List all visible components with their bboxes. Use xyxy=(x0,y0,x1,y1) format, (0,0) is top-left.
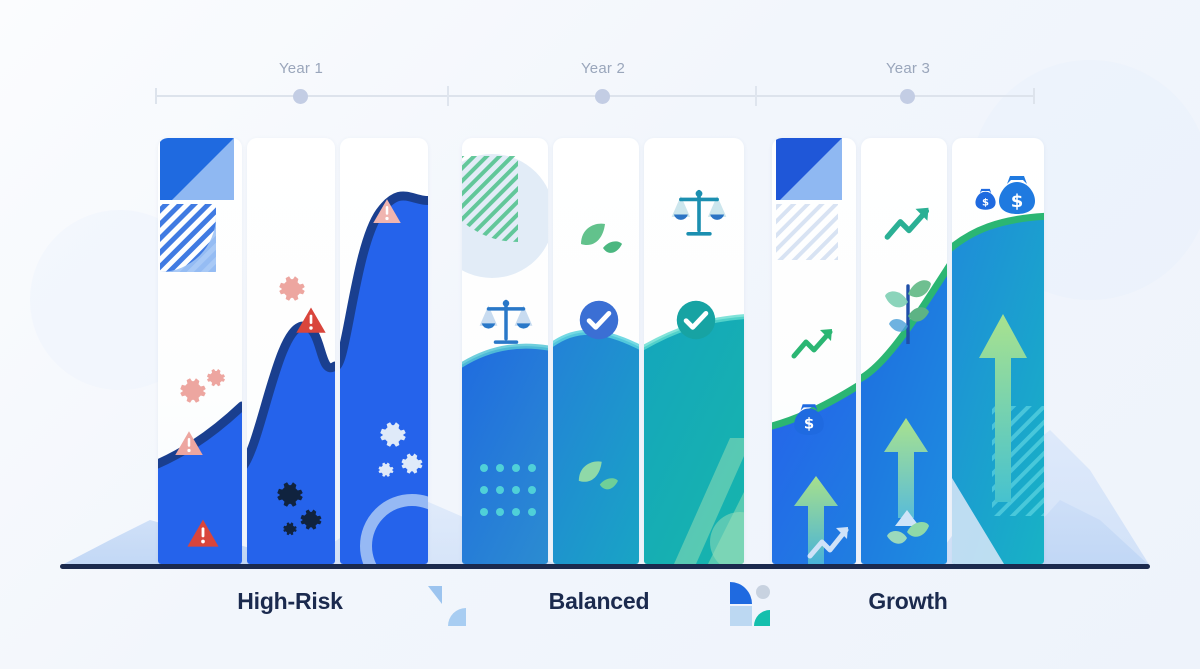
check-circle-icon xyxy=(674,298,718,342)
shape-cluster-quarters-icon xyxy=(722,578,782,630)
money-bag-icon: $ $ xyxy=(974,172,1040,228)
warning-triangle-icon xyxy=(372,196,402,226)
gear-icon xyxy=(376,460,396,480)
leaf-icon xyxy=(573,456,619,498)
panel-balanced-2[interactable] xyxy=(553,138,639,564)
timeline-tick-1 xyxy=(447,86,449,106)
ground-baseline xyxy=(60,564,1150,569)
gear-icon xyxy=(281,520,299,538)
panel-balanced-1[interactable] xyxy=(462,138,548,564)
money-bag-icon: $ xyxy=(792,400,826,436)
panel-growth-3[interactable]: $ $ xyxy=(952,138,1044,564)
panel-balanced-1-art xyxy=(462,138,548,564)
check-circle-icon xyxy=(577,298,621,342)
trend-arrow-icon xyxy=(790,324,838,364)
panel-group-growth[interactable]: $ xyxy=(772,138,1044,564)
timeline-label-year-3: Year 3 xyxy=(886,60,930,77)
panel-group-balanced[interactable] xyxy=(462,138,744,564)
timeline-start-cap xyxy=(155,88,157,104)
timeline-dot-year-2[interactable] xyxy=(595,89,610,104)
panel-growth-2[interactable] xyxy=(861,138,947,564)
svg-text:$: $ xyxy=(982,197,989,208)
category-label-high-risk: High-Risk xyxy=(237,588,343,615)
plant-sprout-icon xyxy=(881,268,935,344)
balance-scales-icon xyxy=(478,294,534,350)
timeline: Year 1 Year 2 Year 3 xyxy=(155,52,1035,112)
trend-arrow-icon xyxy=(806,520,854,564)
panel-balanced-2-art xyxy=(553,138,639,564)
category-label-growth: Growth xyxy=(868,588,947,615)
trend-arrow-icon xyxy=(883,202,935,246)
plant-sprout-icon xyxy=(881,498,933,564)
leaf-icon xyxy=(575,218,623,262)
warning-triangle-icon xyxy=(295,304,327,336)
panel-group-high-risk[interactable] xyxy=(158,138,428,564)
gear-icon xyxy=(376,418,410,452)
timeline-tick-2 xyxy=(755,86,757,106)
panel-high-risk-2[interactable] xyxy=(247,138,335,564)
gear-icon xyxy=(398,450,426,478)
timeline-dot-year-1[interactable] xyxy=(293,89,308,104)
panel-high-risk-3[interactable] xyxy=(340,138,428,564)
warning-triangle-icon xyxy=(186,516,220,550)
timeline-dot-year-3[interactable] xyxy=(900,89,915,104)
gear-icon xyxy=(297,506,325,534)
svg-text:$: $ xyxy=(804,416,814,433)
category-label-balanced: Balanced xyxy=(549,588,650,615)
gear-icon xyxy=(204,366,228,390)
timeline-end-cap xyxy=(1033,88,1035,104)
panel-balanced-3[interactable] xyxy=(644,138,744,564)
panel-growth-1[interactable]: $ xyxy=(772,138,856,564)
up-arrow-icon xyxy=(974,302,1032,502)
timeline-label-year-1: Year 1 xyxy=(279,60,323,77)
timeline-label-year-2: Year 2 xyxy=(581,60,625,77)
balance-scales-icon xyxy=(670,184,728,242)
gear-icon xyxy=(275,272,309,306)
shape-cluster-triangles-icon xyxy=(418,578,478,630)
panel-high-risk-1[interactable] xyxy=(158,138,242,564)
svg-text:$: $ xyxy=(1011,191,1024,212)
warning-triangle-icon xyxy=(174,428,204,458)
panel-high-risk-1-art xyxy=(158,138,242,564)
illustration-canvas: Year 1 Year 2 Year 3 xyxy=(0,0,1200,669)
